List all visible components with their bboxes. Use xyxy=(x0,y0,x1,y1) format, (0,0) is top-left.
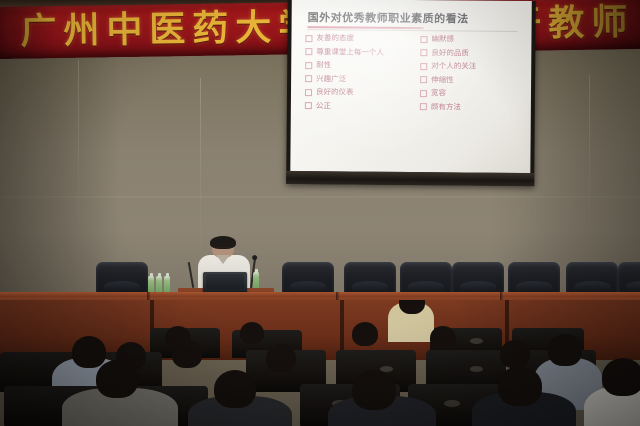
stage-chair xyxy=(508,262,560,294)
list-item: 对个人的关注 xyxy=(420,61,523,71)
list-item-label: 幽默感 xyxy=(431,34,454,43)
laptop xyxy=(203,272,247,294)
list-item-label: 对个人的关注 xyxy=(431,61,476,70)
checkbox-bullet-icon xyxy=(420,103,427,110)
water-bottle xyxy=(164,276,170,292)
water-bottle xyxy=(148,276,154,292)
audience-head xyxy=(72,336,106,368)
checkbox-bullet-icon xyxy=(420,76,427,83)
checkbox-bullet-icon xyxy=(420,63,427,70)
list-item: 幽默感 xyxy=(420,34,523,44)
list-item-label: 良好的仪表 xyxy=(316,87,354,96)
list-item: 颇有方法 xyxy=(420,102,523,112)
audience-head xyxy=(498,366,542,406)
checkbox-bullet-icon xyxy=(305,35,312,42)
list-item: 公正 xyxy=(305,101,408,111)
audience-head xyxy=(602,358,640,396)
list-item: 友善的态度 xyxy=(305,33,408,43)
list-item-label: 尊重课堂上每一个人 xyxy=(316,47,384,57)
checkbox-bullet-icon xyxy=(420,36,427,43)
audience-head xyxy=(266,344,296,372)
list-item: 良好的品质 xyxy=(420,48,523,58)
list-item-label: 耐性 xyxy=(316,60,331,69)
list-item: 耐性 xyxy=(305,60,408,70)
list-item-label: 伸缩性 xyxy=(431,75,454,84)
checkbox-bullet-icon xyxy=(305,102,312,109)
checkbox-bullet-icon xyxy=(305,89,312,96)
checkbox-bullet-icon xyxy=(420,49,427,56)
stage-chair xyxy=(566,262,618,294)
stage-chair xyxy=(344,262,396,294)
seat-number-plate xyxy=(470,366,483,372)
list-item-label: 颇有方法 xyxy=(431,102,461,111)
audience-head xyxy=(172,340,202,368)
audience-head xyxy=(214,370,256,408)
list-item: 良好的仪表 xyxy=(305,87,408,97)
audience-head xyxy=(96,360,138,398)
banner-shadow-left xyxy=(0,6,57,59)
checkbox-bullet-icon xyxy=(420,90,427,97)
stage-chair xyxy=(96,262,148,294)
banner-shadow-right xyxy=(524,0,640,51)
water-bottle xyxy=(253,272,259,288)
projection-screen: 国外对优秀教师职业素质的看法 友善的态度 尊重课堂上每一个人 耐性 xyxy=(286,0,536,186)
slide-title: 国外对优秀教师职业素质的看法 xyxy=(308,9,518,27)
list-item-label: 公正 xyxy=(316,101,331,110)
list-item-label: 宽容 xyxy=(431,88,446,97)
list-item: 尊重课堂上每一个人 xyxy=(305,47,408,57)
screen-roller-bar xyxy=(286,171,534,186)
audience-head xyxy=(548,334,582,366)
list-item: 伸缩性 xyxy=(420,75,523,85)
slide-column-left: 友善的态度 尊重课堂上每一个人 耐性 兴趣广泛 xyxy=(305,33,409,115)
laptop-screen xyxy=(206,274,244,289)
list-item-label: 友善的态度 xyxy=(316,33,354,42)
stage-chair xyxy=(452,262,504,294)
list-item-label: 良好的品质 xyxy=(431,48,469,57)
audience-head xyxy=(500,340,530,368)
stage-chair xyxy=(282,262,334,294)
desk-top-edge xyxy=(0,292,640,297)
list-item: 宽容 xyxy=(420,88,523,98)
seat-number-plate xyxy=(444,400,460,407)
seat-number-plate xyxy=(470,338,483,344)
glasses-icon xyxy=(213,247,233,252)
checkbox-bullet-icon xyxy=(305,48,312,55)
stage-chair xyxy=(618,262,640,294)
lecture-hall-photo: 广州中医药大学第 也骨干教师 国外对优秀教师职业素质的看法 友善的态度 尊重课堂… xyxy=(0,0,640,426)
stage-chair xyxy=(400,262,452,294)
projection-screen-surface: 国外对优秀教师职业素质的看法 友善的态度 尊重课堂上每一个人 耐性 xyxy=(290,0,531,173)
slide-title-underline xyxy=(308,29,518,32)
water-bottle xyxy=(156,276,162,292)
list-item-label: 兴趣广泛 xyxy=(316,74,346,83)
audience-head xyxy=(240,322,264,344)
audience-head xyxy=(430,326,456,350)
slide-column-right: 幽默感 良好的品质 对个人的关注 伸缩性 xyxy=(420,34,524,116)
checkbox-bullet-icon xyxy=(305,75,312,82)
audience-area xyxy=(0,300,640,426)
list-item: 兴趣广泛 xyxy=(305,74,408,84)
audience-head xyxy=(352,370,396,410)
slide-bullet-columns: 友善的态度 尊重课堂上每一个人 耐性 兴趣广泛 xyxy=(305,33,524,116)
audience-head xyxy=(352,322,378,346)
checkbox-bullet-icon xyxy=(305,62,312,69)
